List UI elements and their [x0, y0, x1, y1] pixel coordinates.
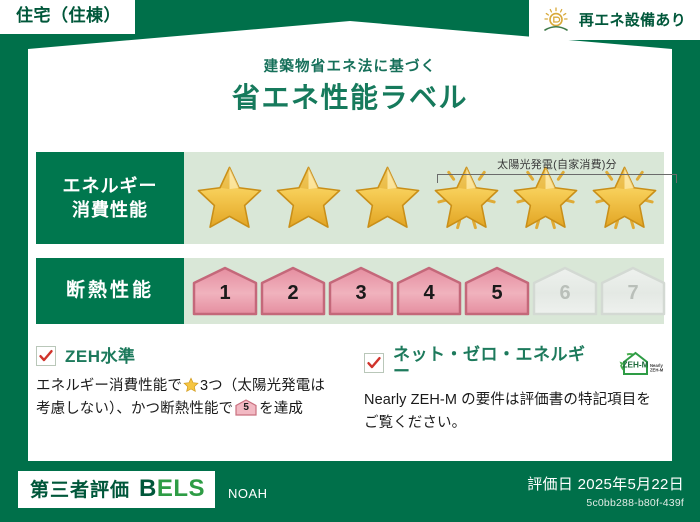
- renewable-energy-sun-icon: [541, 6, 571, 34]
- organization-name: NOAH: [228, 487, 268, 500]
- star-rating: [184, 152, 664, 244]
- insulation-badge-number-4: 4: [396, 283, 462, 303]
- zeh-standard-block: ZEH水準 エネルギー消費性能で3つ（太陽光発電は考慮しない）、かつ断熱性能で5…: [36, 346, 350, 436]
- svg-text:ZEH-M: ZEH-M: [650, 368, 664, 373]
- third-party-label: 第三者評価: [30, 481, 130, 500]
- net-zero-title: ネット・ゼロ・エネルギー: [393, 346, 593, 380]
- star-6: [585, 158, 664, 238]
- zeh-standard-checkbox[interactable]: [36, 346, 56, 366]
- evaluation-id: 5c0bb288-b80f-439f: [527, 498, 684, 509]
- renewable-energy-label: 再エネ設備あり: [579, 13, 686, 28]
- net-zero-header: ネット・ゼロ・エネルギー ZEH-M Nearly ZEH-M: [364, 346, 664, 380]
- insulation-performance-body: 1 2: [184, 258, 664, 324]
- insulation-badge-1: 1: [192, 266, 258, 316]
- zeh-desc-part1: エネルギー消費性能で: [36, 378, 182, 394]
- star-5: [506, 158, 585, 238]
- insulation-badge-7: 7: [600, 266, 666, 316]
- energy-performance-label-cell: エネルギー 消費性能: [36, 152, 184, 244]
- zeh-standard-title: ZEH水準: [65, 348, 136, 365]
- star-4: [427, 158, 506, 238]
- insulation-badge-5: 5: [464, 266, 530, 316]
- bels-letter-b: B: [139, 475, 157, 502]
- evaluation-date: 評価日 2025年5月22日: [527, 477, 684, 492]
- net-zero-description: Nearly ZEH-M の要件は評価書の特記項目をご覧ください。: [364, 389, 664, 436]
- label-subtitle: 建築物省エネ法に基づく: [0, 60, 700, 75]
- insulation-label: 断熱性能: [66, 278, 154, 304]
- building-type-label: 住宅（住棟）: [16, 6, 121, 25]
- insulation-badge-number-5: 5: [464, 283, 530, 303]
- insulation-badge-number-7: 7: [600, 283, 666, 303]
- zeh-standard-header: ZEH水準: [36, 346, 332, 366]
- check-icon: [38, 348, 54, 364]
- insulation-badge-number-1: 1: [192, 283, 258, 303]
- inline-grade-badge: 5: [235, 399, 257, 416]
- insulation-badge-6: 6: [532, 266, 598, 316]
- inline-grade-number: 5: [235, 403, 257, 413]
- insulation-badge-4: 4: [396, 266, 462, 316]
- building-type-tag: 住宅（住棟）: [0, 0, 135, 34]
- bels-letters-els: ELS: [157, 475, 205, 502]
- insulation-badge-2: 2: [260, 266, 326, 316]
- renewable-energy-tag: 再エネ設備あり: [529, 0, 700, 40]
- performance-rows: エネルギー 消費性能: [36, 152, 664, 324]
- star-1: [190, 158, 269, 238]
- label-title: 省エネ性能ラベル: [0, 84, 700, 112]
- zeh-standard-description: エネルギー消費性能で3つ（太陽光発電は考慮しない）、かつ断熱性能で5を達成: [36, 375, 332, 422]
- check-icon: [366, 355, 382, 371]
- energy-label-line1: エネルギー: [63, 174, 158, 198]
- bels-wordmark: BELS: [139, 477, 205, 501]
- energy-performance-row: エネルギー 消費性能: [36, 152, 664, 244]
- criteria-section: ZEH水準 エネルギー消費性能で3つ（太陽光発電は考慮しない）、かつ断熱性能で5…: [36, 346, 664, 436]
- energy-performance-body: 太陽光発電(自家消費)分: [184, 152, 664, 244]
- star-2: [269, 158, 348, 238]
- net-zero-energy-block: ネット・ゼロ・エネルギー ZEH-M Nearly ZEH-M Nearly Z…: [350, 346, 664, 436]
- insulation-grade-scale: 1 2: [184, 258, 664, 324]
- inline-star-icon: [183, 377, 199, 393]
- zeh-m-logo-icon: ZEH-M Nearly ZEH-M: [608, 348, 664, 378]
- insulation-badge-number-6: 6: [532, 283, 598, 303]
- net-zero-checkbox[interactable]: [364, 353, 384, 373]
- bels-footer-badge: 第三者評価 BELS: [18, 471, 215, 508]
- energy-performance-label: 住宅（住棟） 再エネ設備あり 建築物省エネ法に基づく 省エネ性能ラベル: [0, 0, 700, 522]
- insulation-performance-label-cell: 断熱性能: [36, 258, 184, 324]
- title-block: 建築物省エネ法に基づく 省エネ性能ラベル: [0, 60, 700, 112]
- svg-text:ZEH-M: ZEH-M: [623, 360, 649, 369]
- energy-label-line2: 消費性能: [72, 198, 148, 222]
- insulation-badge-number-3: 3: [328, 283, 394, 303]
- star-3: [348, 158, 427, 238]
- insulation-badge-number-2: 2: [260, 283, 326, 303]
- insulation-badge-3: 3: [328, 266, 394, 316]
- evaluation-info: 評価日 2025年5月22日 5c0bb288-b80f-439f: [527, 477, 684, 509]
- zeh-desc-part3: を達成: [259, 401, 303, 417]
- insulation-performance-row: 断熱性能 1: [36, 258, 664, 324]
